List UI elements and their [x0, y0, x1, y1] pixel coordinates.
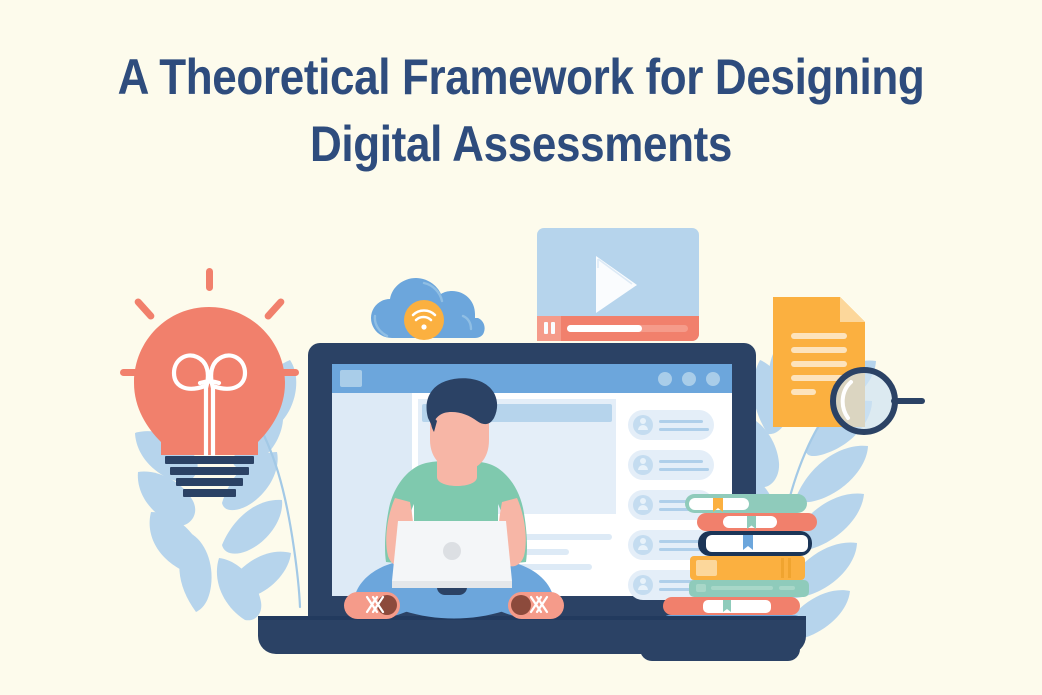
video-player-card[interactable] — [537, 228, 699, 341]
titlebar-logo — [340, 370, 362, 387]
poster-canvas: A Theoretical Framework for Designing Di… — [0, 0, 1042, 695]
book-item — [685, 494, 807, 513]
lightbulb-ray-top-left — [133, 297, 156, 321]
shoe-left — [344, 592, 400, 619]
shoe-right — [508, 592, 564, 619]
folded-corner — [840, 297, 865, 322]
list-item — [628, 450, 714, 480]
book-item — [663, 597, 800, 615]
titlebar-dots — [658, 372, 720, 386]
video-progress-fill — [567, 325, 642, 332]
monitor-base — [258, 616, 806, 654]
book-item — [697, 513, 817, 531]
title-line-2: Digital Assessments — [63, 111, 980, 178]
lightbulb-ray-top-right — [263, 297, 286, 321]
cloud-wifi-badge — [371, 278, 485, 340]
laptop-device — [392, 521, 512, 595]
monitor-titlebar — [332, 364, 732, 393]
book-item — [690, 556, 805, 580]
magnifying-glass — [833, 370, 922, 432]
page-title: A Theoretical Framework for Designing Di… — [0, 44, 1042, 178]
wifi-badge-circle — [404, 300, 444, 340]
book-item — [698, 531, 812, 556]
book-item — [689, 580, 809, 597]
lightbulb-ray-top — [206, 268, 213, 291]
title-line-1: A Theoretical Framework for Designing — [63, 44, 980, 111]
list-item — [628, 410, 714, 440]
